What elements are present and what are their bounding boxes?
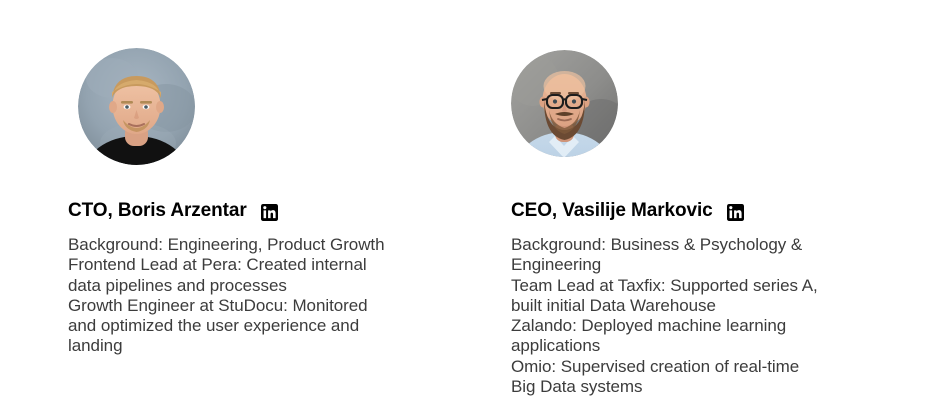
profile-card-vasilije-markovic: CEO, Vasilije Markovic Background: Busin… — [511, 48, 911, 397]
member-name-row: CTO, Boris Arzentar — [68, 200, 468, 222]
team-members-section: CTO, Boris Arzentar Background: Engineer… — [0, 0, 948, 412]
avatar-vasilije-markovic — [511, 50, 618, 157]
member-bio: Background: Business & Psychology & Engi… — [511, 235, 861, 397]
linkedin-icon[interactable] — [261, 204, 278, 221]
member-bio: Background: Engineering, Product Growth … — [68, 235, 413, 357]
linkedin-icon[interactable] — [727, 204, 744, 221]
member-name: CEO, Vasilije Markovic — [511, 200, 713, 222]
member-name-row: CEO, Vasilije Markovic — [511, 200, 911, 222]
profile-card-boris-arzentar: CTO, Boris Arzentar Background: Engineer… — [68, 48, 468, 357]
member-name: CTO, Boris Arzentar — [68, 200, 247, 222]
avatar-boris-arzentar — [78, 48, 195, 165]
